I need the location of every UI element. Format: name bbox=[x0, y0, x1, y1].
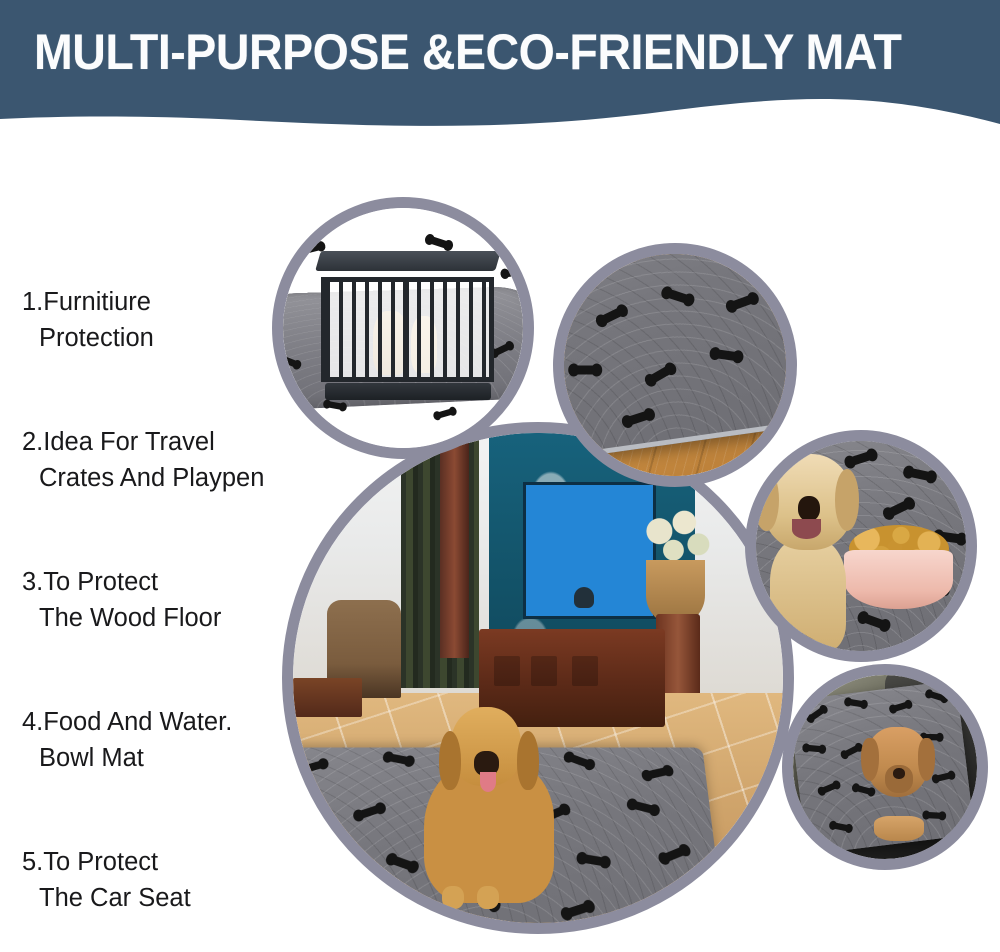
feature-item-3: 3.To Protect The Wood Floor bbox=[22, 528, 284, 672]
bone-pattern bbox=[564, 254, 786, 463]
puppy bbox=[859, 727, 940, 841]
bone-pattern bbox=[793, 680, 975, 854]
feature-1-line1: Furnitiure bbox=[43, 288, 151, 316]
television bbox=[523, 482, 655, 619]
car-interior bbox=[793, 675, 977, 859]
feature-4-line1: Food And Water. bbox=[43, 708, 232, 736]
feature-item-2: 2.Idea For Travel Crates And Playpen bbox=[22, 388, 284, 532]
feature-2-line1: Idea For Travel bbox=[43, 428, 215, 456]
feature-3-number: 3. bbox=[22, 568, 43, 596]
bone-pattern bbox=[293, 747, 729, 923]
feature-item-4: 4.Food And Water. Bowl Mat bbox=[22, 668, 284, 812]
dog-in-crate bbox=[373, 311, 408, 376]
feature-5-line1: To Protect bbox=[43, 848, 158, 876]
wood-floor bbox=[564, 254, 786, 476]
feature-item-1: 1.Furnitiure Protection bbox=[22, 248, 284, 392]
pet-mat bbox=[293, 747, 729, 923]
second-dog-in-crate bbox=[411, 316, 437, 373]
page-title: MULTI-PURPOSE &ECO-FRIENDLY MAT bbox=[34, 24, 908, 80]
feature-1-line2: Protection bbox=[22, 320, 284, 356]
feature-2-number: 2. bbox=[22, 428, 43, 456]
feature-1-number: 1. bbox=[22, 288, 43, 316]
feature-list: 1.Furnitiure Protection 2.Idea For Trave… bbox=[0, 140, 290, 940]
feature-3-line1: To Protect bbox=[43, 568, 158, 596]
feature-5-line2: The Car Seat bbox=[22, 880, 284, 916]
food-bowl-photo bbox=[745, 430, 977, 662]
living-room-photo bbox=[282, 422, 794, 934]
feature-3-line2: The Wood Floor bbox=[22, 600, 284, 636]
kibble bbox=[849, 525, 949, 572]
feature-item-5: 5.To Protect The Car Seat bbox=[22, 808, 284, 952]
feature-4-number: 4. bbox=[22, 708, 43, 736]
bone-pattern bbox=[756, 441, 966, 651]
wood-floor-photo bbox=[553, 243, 797, 487]
pet-mat bbox=[793, 680, 975, 854]
feature-2-line2: Crates And Playpen bbox=[22, 460, 284, 496]
golden-retriever bbox=[756, 454, 865, 647]
feature-4-line2: Bowl Mat bbox=[22, 740, 284, 776]
dog-crate bbox=[321, 266, 494, 391]
header-banner: MULTI-PURPOSE &ECO-FRIENDLY MAT bbox=[0, 0, 1000, 132]
dog-crate-photo bbox=[272, 197, 534, 459]
food-bowl bbox=[844, 525, 953, 609]
pet-mat bbox=[283, 286, 523, 413]
pet-mat bbox=[564, 254, 786, 463]
bone-pattern bbox=[283, 232, 523, 434]
golden-retriever bbox=[416, 707, 563, 903]
feature-5-number: 5. bbox=[22, 848, 43, 876]
car-seat-photo bbox=[782, 664, 988, 870]
